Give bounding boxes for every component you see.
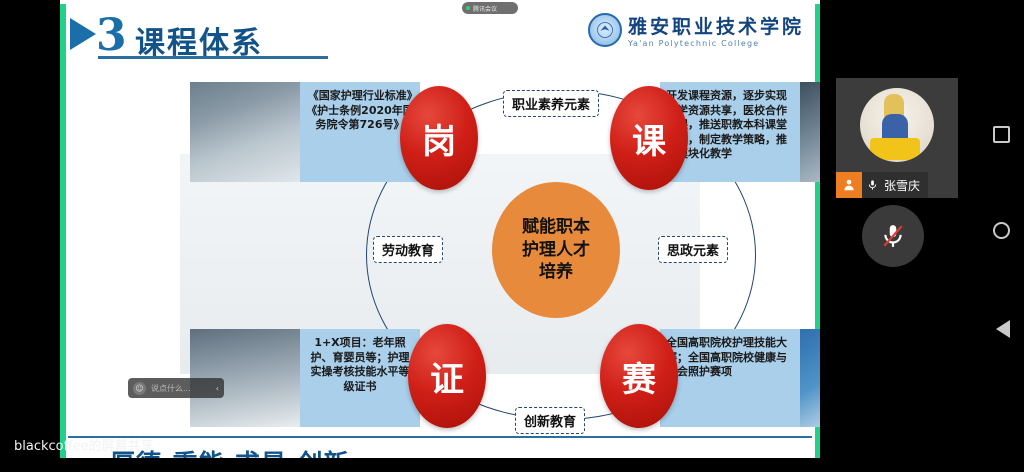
logo-name-en: Ya'an Polytechnic College	[628, 39, 804, 48]
host-badge	[836, 172, 862, 198]
screen-share-banner: blackcoffee的屏幕共享	[0, 430, 220, 458]
square-icon[interactable]	[993, 126, 1010, 143]
center-line-2: 护理人才	[522, 239, 590, 261]
mute-toggle-button[interactable]	[862, 205, 924, 267]
node-sai: 赛	[600, 324, 678, 428]
label-bottom: 创新教育	[515, 407, 585, 434]
slide-left-accent-bar	[60, 4, 66, 466]
university-seal-icon	[588, 13, 622, 47]
participant-name: 张雪庆	[882, 177, 928, 194]
center-line-3: 培养	[522, 261, 590, 283]
microphone-muted-icon	[880, 221, 906, 251]
band-bottom-left: 1+X项目：老年照护、育婴员等；护理实操考核技能水平等级证书	[190, 329, 420, 427]
avatar-cart	[870, 138, 920, 160]
center-goal-circle: 赋能职本 护理人才 培养	[492, 182, 620, 318]
avatar	[860, 88, 934, 162]
section-number: 3	[96, 10, 127, 61]
arrow-marker-icon	[70, 18, 96, 50]
logo-name-cn: 雅安职业技术学院	[628, 12, 804, 39]
node-ke: 课	[610, 86, 688, 190]
band-top-left: 《国家护理行业标准》《护士条例2020年国务院令第726号》	[190, 82, 420, 182]
circle-icon[interactable]	[993, 222, 1010, 239]
classroom-photo	[800, 82, 820, 182]
award-ceremony-photo	[800, 329, 820, 427]
center-line-1: 赋能职本	[522, 216, 590, 238]
chevron-left-icon[interactable]: ‹	[216, 384, 219, 393]
recording-dot-icon	[466, 6, 470, 10]
emoji-icon[interactable]: ☺	[133, 382, 146, 395]
left-letterbox	[0, 0, 60, 472]
slide-header: 3 课程体系 雅安职业技术学院 Ya'an Polytechnic Colleg…	[60, 4, 820, 62]
title-underline	[98, 56, 328, 59]
bottom-letterbox	[0, 458, 1024, 472]
label-right: 思政元素	[658, 236, 728, 263]
android-navigation-bar	[960, 0, 1024, 472]
triangle-back-icon[interactable]	[996, 320, 1010, 338]
university-logo: 雅安职业技术学院 Ya'an Polytechnic College	[588, 12, 804, 48]
microphone-icon	[862, 178, 882, 192]
app-pill-label: 腾讯会议	[473, 4, 497, 13]
screen-share-viewport[interactable]: 3 课程体系 雅安职业技术学院 Ya'an Polytechnic Colleg…	[60, 0, 820, 472]
chat-input-bubble[interactable]: ☺ 说点什么... ‹	[128, 378, 224, 398]
nursing-practice-photo	[190, 82, 300, 182]
participant-name-bar: 张雪庆	[836, 172, 928, 198]
band-bottom-left-text: 1+X项目：老年照护、育婴员等；护理实操考核技能水平等级证书	[300, 329, 420, 427]
node-zheng: 证	[408, 324, 486, 428]
chat-placeholder: 说点什么...	[151, 383, 211, 394]
app-status-pill: 腾讯会议	[462, 2, 518, 14]
label-top: 职业素养元素	[503, 90, 599, 117]
band-bottom-right-text: 全国高职院校护理技能大赛；全国高职院校健康与社会照护赛项	[660, 329, 800, 427]
node-gang: 岗	[400, 86, 478, 190]
phone-screen: 3 课程体系 雅安职业技术学院 Ya'an Polytechnic Colleg…	[0, 0, 1024, 472]
band-bottom-right: 全国高职院校护理技能大赛；全国高职院校健康与社会照护赛项	[660, 329, 820, 427]
label-left: 劳动教育	[373, 236, 443, 263]
